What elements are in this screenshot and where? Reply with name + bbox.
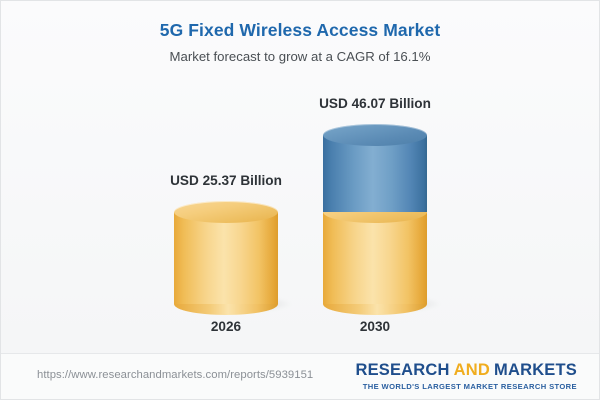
bar-cylinder-2030[interactable] — [323, 124, 427, 307]
brand-word-research: RESEARCH — [355, 361, 449, 379]
bar-cylinder-2026[interactable] — [174, 201, 278, 307]
bar-2030-top-cap — [323, 124, 427, 146]
brand-word-markets: MARKETS — [494, 361, 577, 379]
bar-2026-base-body — [174, 212, 278, 304]
brand-logo[interactable]: RESEARCHANDMARKETS THE WORLD'S LARGEST M… — [355, 361, 577, 392]
bar-2026-top-cap — [174, 201, 278, 223]
report-url[interactable]: https://www.researchandmarkets.com/repor… — [37, 369, 313, 381]
brand-word-and: AND — [450, 361, 494, 379]
brand-tagline: THE WORLD'S LARGEST MARKET RESEARCH STOR… — [355, 381, 577, 392]
bar-2030-base-body — [323, 212, 427, 304]
value-label-2030: USD 46.07 Billion — [275, 96, 475, 111]
category-label-2030: 2030 — [275, 319, 475, 334]
bar-2030-growth-body — [323, 135, 427, 212]
brand-wordmark: RESEARCHANDMARKETS — [355, 361, 577, 380]
value-label-2026: USD 25.37 Billion — [126, 173, 326, 188]
infographic-card: 5G Fixed Wireless Access Market Market f… — [0, 0, 600, 400]
chart-plot-area: USD 25.37 Billion 2026 USD 46.07 Billion — [1, 1, 599, 353]
footer: https://www.researchandmarkets.com/repor… — [1, 354, 599, 399]
